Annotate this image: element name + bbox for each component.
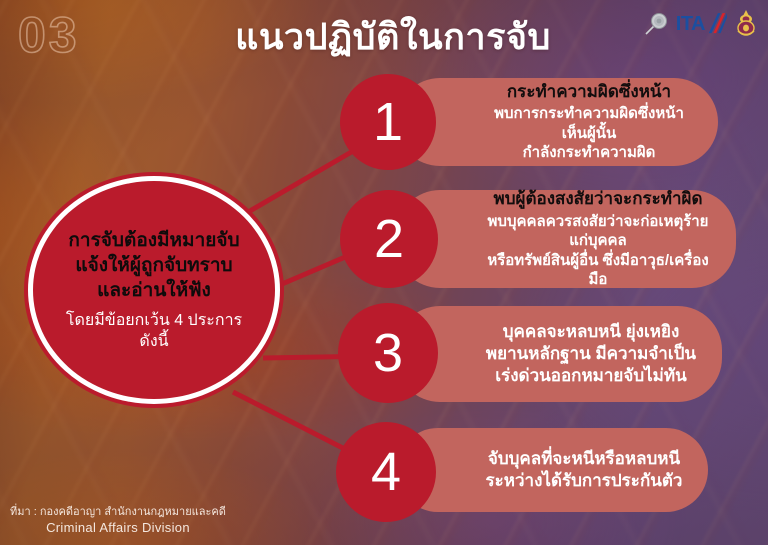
ita-logo-text: ITA [676,13,705,36]
item-4-number-bubble: 4 [336,422,436,522]
item-2-title: พบผู้ต้องสงสัยว่าจะกระทำผิด [493,188,702,209]
infographic-slide: 03 แนวปฏิบัติในการจับ ITA [0,0,768,545]
police-seal-logo-icon [643,11,669,37]
hub-sub-text: โดยมีข้อยกเว้น 4 ประการ ดังนี้ [66,311,242,353]
royal-emblem-logo-icon [734,9,758,39]
item-3-body: บุคคลจะหลบหนี ยุ่งเหยิง พยานหลักฐาน มีคว… [486,321,696,387]
ita-logo: ITA [676,13,727,36]
footer-source-thai: ที่มา : กองคดีอาญา สำนักงานกฎหมายและคดี [10,505,226,520]
item-2-number: 2 [374,212,404,266]
item-3-number-bubble: 3 [338,303,438,403]
footer-source: ที่มา : กองคดีอาญา สำนักงานกฎหมายและคดี … [10,505,226,537]
item-4-number: 4 [371,445,401,499]
item-2-pill: พบผู้ต้องสงสัยว่าจะกระทำผิด พบบุคคลควรสง… [396,190,736,288]
item-3-pill: บุคคลจะหลบหนี ยุ่งเหยิง พยานหลักฐาน มีคว… [396,306,722,402]
hub-main-text: การจับต้องมีหมายจับ แจ้งให้ผู้ถูกจับทราบ… [68,228,239,304]
item-1-title: กระทำความผิดซึ่งหน้า [507,81,671,102]
item-1-body: พบการกระทำความผิดซึ่งหน้า เห็นผู้นั้น กำ… [482,104,696,163]
footer-source-english: Criminal Affairs Division [10,519,226,537]
item-2-number-bubble: 2 [340,190,438,288]
item-2-body: พบบุคคลควรสงสัยว่าจะก่อเหตุร้ายแก่บุคคล … [482,212,714,290]
item-4-pill: จับบุคลที่จะหนีหรือหลบหนี ระหว่างได้รับก… [396,428,708,512]
item-1-pill: กระทำความผิดซึ่งหน้า พบการกระทำความผิดซึ… [396,78,718,166]
logo-group: ITA [643,8,758,40]
item-4-body: จับบุคลที่จะหนีหรือหลบหนี ระหว่างได้รับก… [486,448,683,492]
item-1-number-bubble: 1 [340,74,436,170]
item-1-number: 1 [373,95,403,149]
item-3-number: 3 [373,326,403,380]
central-hub: การจับต้องมีหมายจับ แจ้งให้ผู้ถูกจับทราบ… [28,176,280,404]
ita-flag-stripes-icon [707,13,727,35]
